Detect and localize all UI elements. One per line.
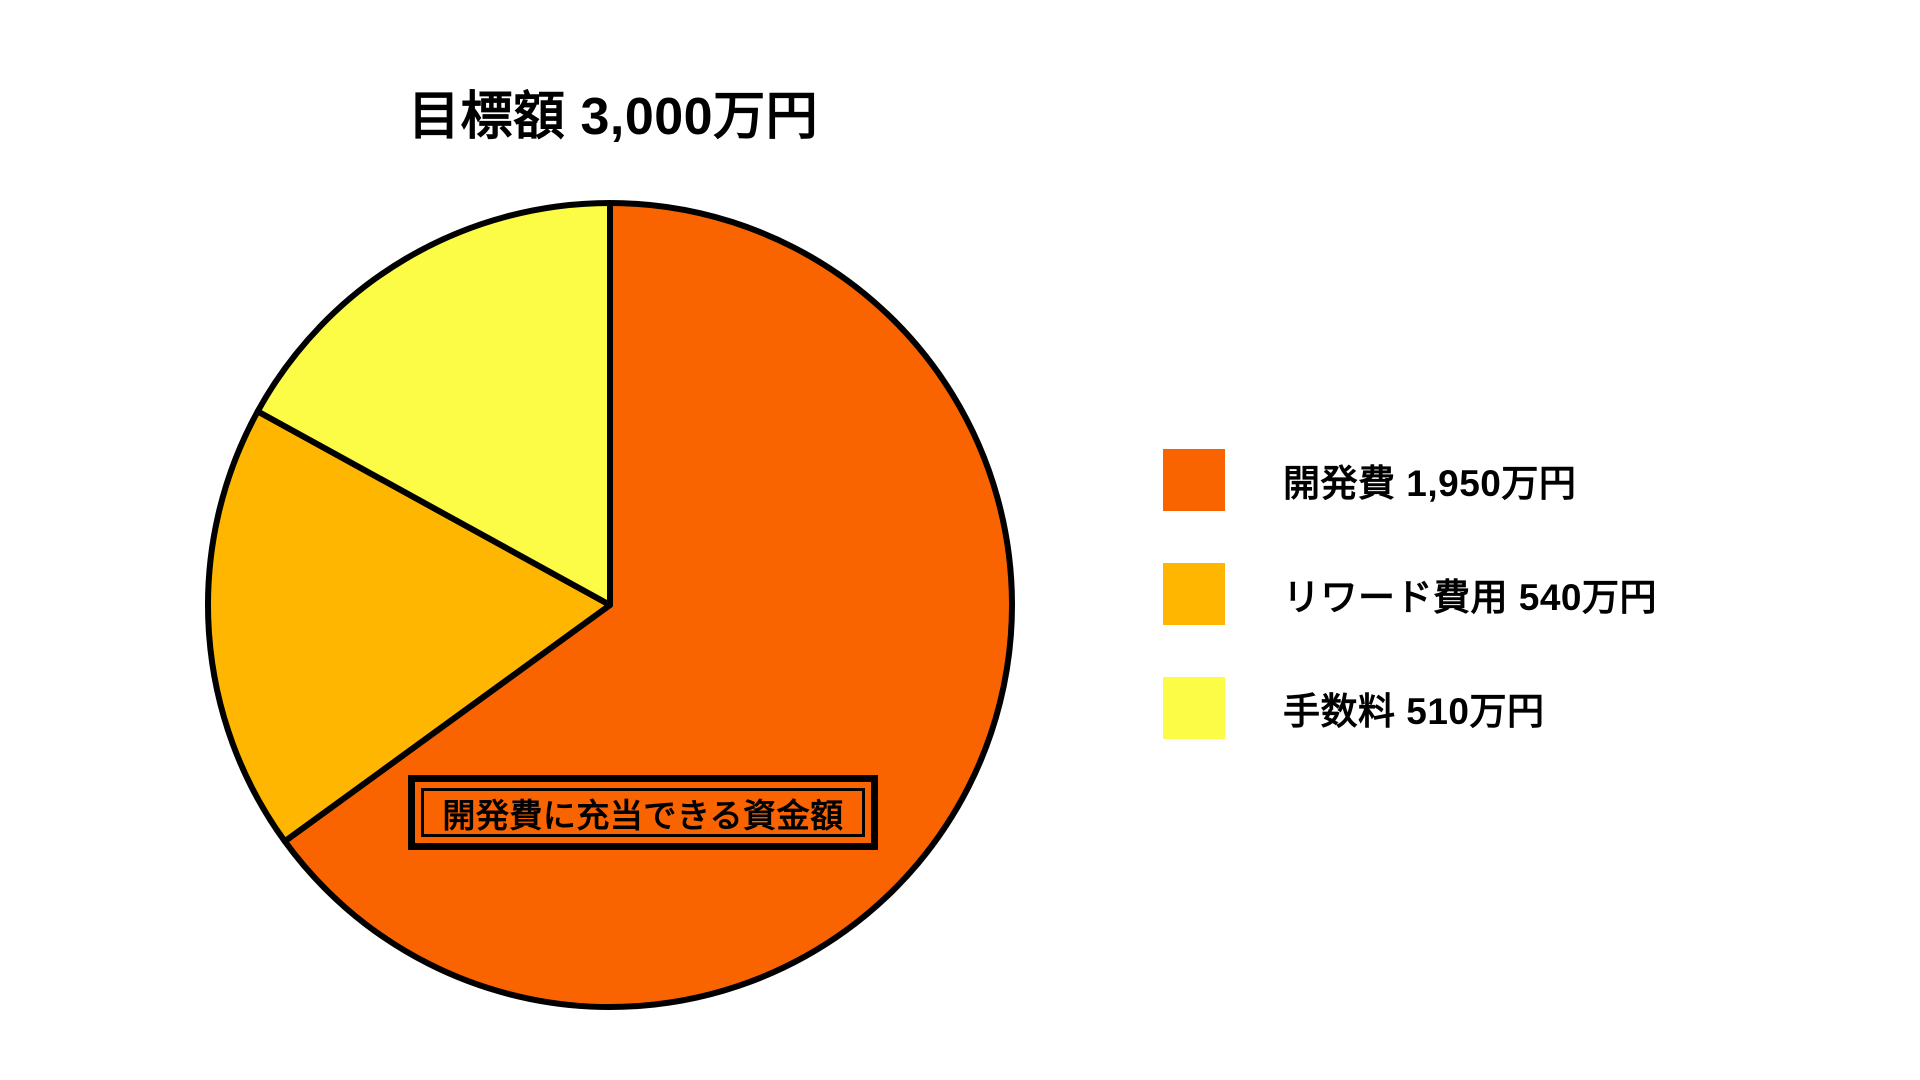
legend-label: 手数料 510万円: [1283, 681, 1545, 735]
legend-swatch: [1163, 563, 1225, 625]
legend-label: リワード費用 540万円: [1283, 567, 1657, 621]
legend-swatch: [1163, 677, 1225, 739]
legend-label: 開発費 1,950万円: [1283, 453, 1576, 507]
chart-legend: 開発費 1,950万円リワード費用 540万円手数料 510万円: [1163, 448, 1763, 740]
chart-canvas: 目標額 3,000万円 開発費に充当できる資金額 開発費 1,950万円リワード…: [0, 0, 1920, 1080]
legend-swatch: [1163, 449, 1225, 511]
callout-label: 開発費に充当できる資金額: [442, 789, 843, 837]
legend-item: 手数料 510万円: [1163, 676, 1763, 740]
page-title: 目標額 3,000万円: [408, 90, 818, 145]
callout-box: 開発費に充当できる資金額: [408, 775, 878, 850]
legend-item: 開発費 1,950万円: [1163, 448, 1763, 512]
pie-slice-group: [208, 203, 1012, 1007]
pie-chart: [180, 175, 1040, 1035]
legend-item: リワード費用 540万円: [1163, 562, 1763, 626]
